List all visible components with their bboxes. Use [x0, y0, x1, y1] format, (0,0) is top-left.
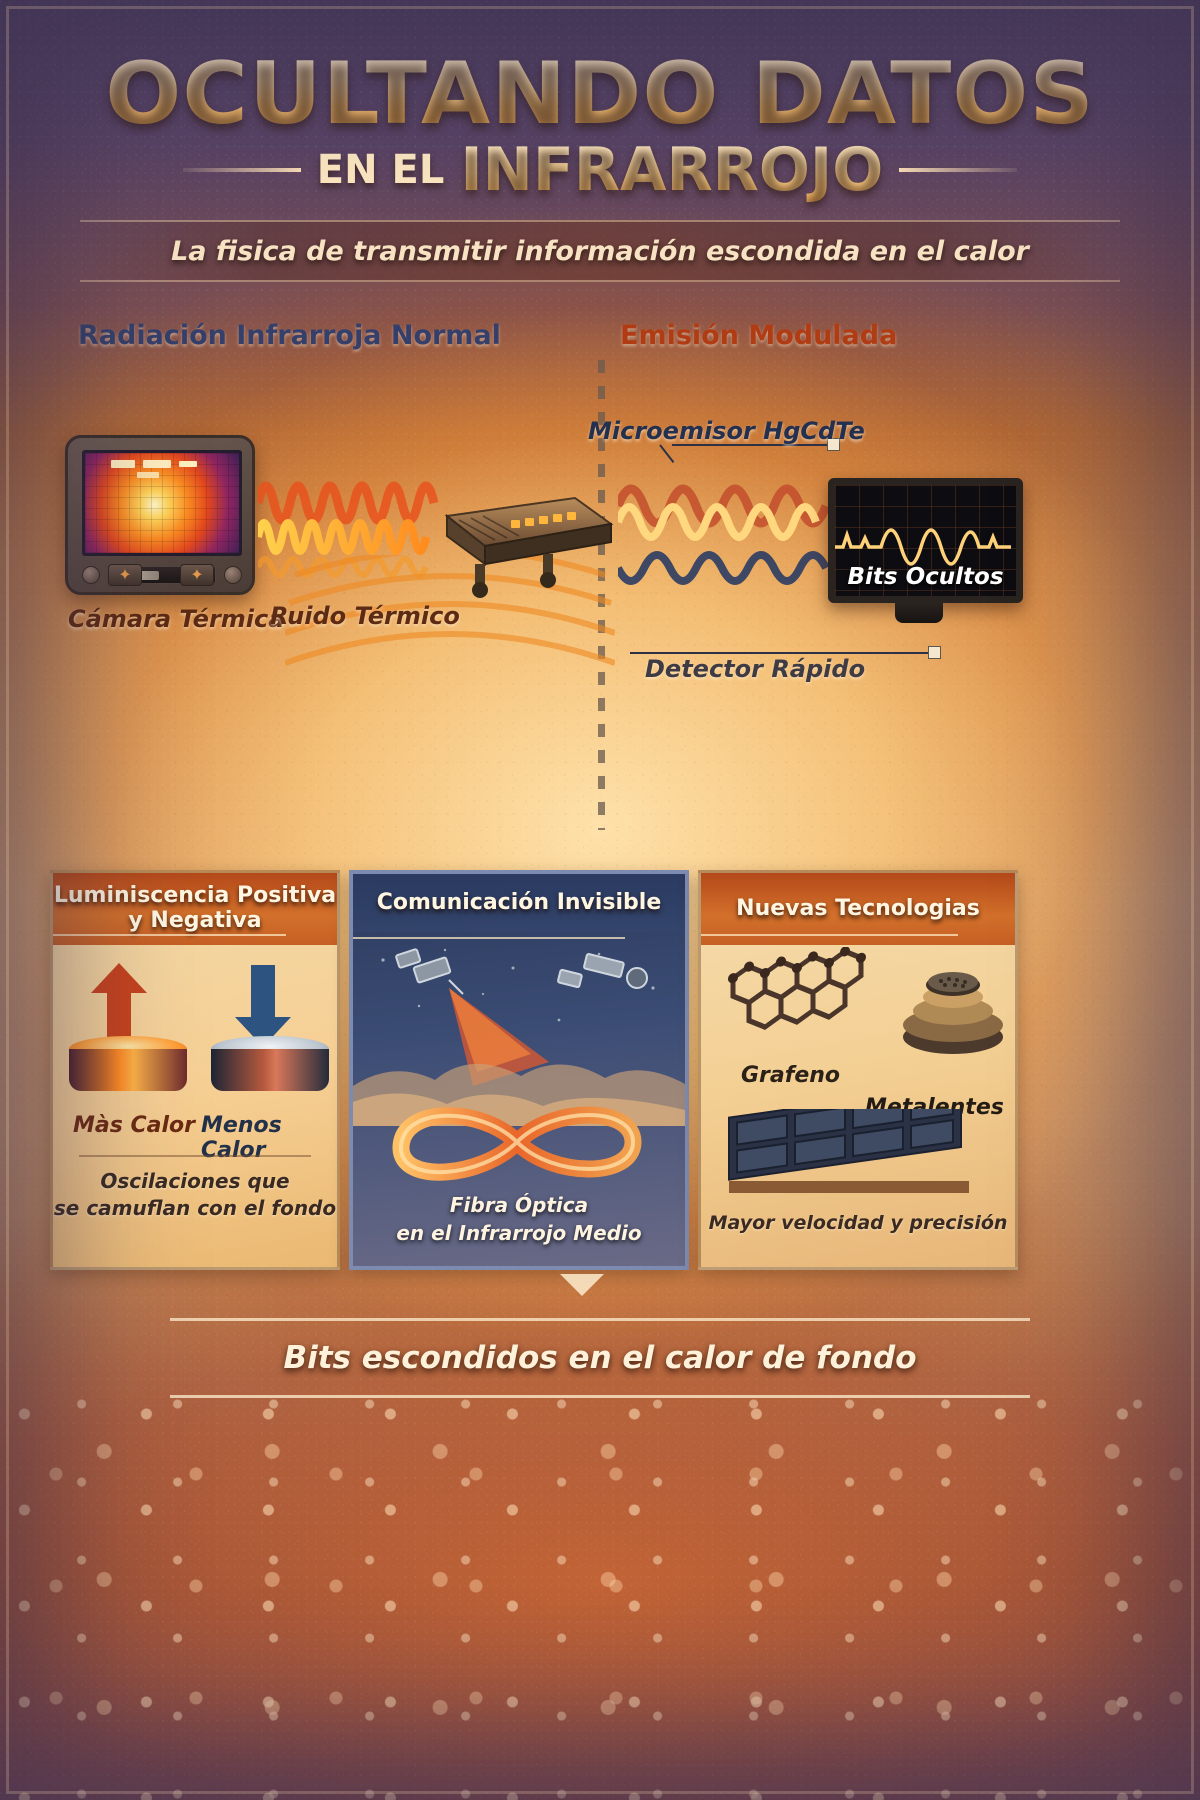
panel1-note-rule [79, 1155, 311, 1157]
panel-luminiscencia[interactable]: Luminiscencia Positiva y Negativa Màs [50, 870, 340, 1270]
main-diagram: ✦ ✦ [0, 360, 1200, 850]
detector-label: Detector Rápido [645, 655, 865, 683]
graphene-icon [715, 947, 893, 1059]
thermal-screen [82, 450, 242, 556]
panel3-title-line1: Nuevas Tecnologias [736, 897, 980, 922]
panel-row: Luminiscencia Positiva y Negativa Màs [50, 870, 1155, 1270]
panel3-item-left: Grafeno [741, 1063, 840, 1088]
poster-canvas: OCULTANDO DATOS EN EL INFRARROJO La fisi… [0, 0, 1200, 1800]
section-header-left: Radiación Infrarroja Normal [78, 320, 501, 351]
section-header-right: Emisión Modulada [620, 320, 897, 351]
footer-band: Bits escondidos en el calor de fondo [170, 1318, 1030, 1398]
fiber-optic-icon [377, 1096, 663, 1188]
panel-comunicacion[interactable]: Comunicación Invisible [349, 870, 689, 1270]
page-title: OCULTANDO DATOS [0, 44, 1200, 144]
camera-knob-left[interactable] [82, 566, 100, 584]
panel1-item-left: Màs Calor [73, 1113, 195, 1138]
leader-emitter-elbow [659, 444, 674, 463]
oscilloscope-display: Bits Ocultos [828, 478, 1023, 603]
title-small: EN EL [317, 147, 445, 193]
camera-button-right[interactable]: ✦ [180, 564, 214, 586]
chip-hot-icon [69, 1036, 187, 1098]
infrared-emitter-device [425, 480, 615, 590]
panel2-note-line1: Fibra Óptica [353, 1192, 685, 1218]
emitter-label: Microemisor HgCdTe [588, 417, 865, 445]
poster-header: OCULTANDO DATOS EN EL INFRARROJO La fisi… [0, 0, 1200, 300]
scope-stand [895, 603, 943, 623]
thermal-camera-icon: ✦ ✦ [65, 435, 255, 595]
scope-label: Bits Ocultos [835, 564, 1016, 590]
panel2-note-line2: en el Infrarrojo Medio [353, 1220, 685, 1246]
leader-detector [630, 652, 930, 654]
subtitle-band: La fisica de transmitir información esco… [80, 220, 1120, 282]
thermal-pixel-grid [85, 453, 239, 553]
noise-label: Ruido Térmico [270, 602, 460, 630]
title-rule-left [183, 168, 301, 172]
panel1-title-line2: y Negativa [128, 909, 261, 934]
leader-dot-detector [928, 646, 941, 659]
camera-knob-right[interactable] [224, 566, 242, 584]
panel-tecnologias[interactable]: Nuevas Tecnologias [698, 870, 1018, 1270]
panel1-title-line1: Luminiscencia Positiva [54, 884, 336, 909]
panel2-title-line1: Comunicación Invisible [377, 891, 662, 916]
title-rule-right [899, 168, 1017, 172]
chevron-down-icon [560, 1274, 604, 1296]
panel1-hdr-rule [53, 934, 286, 936]
photonic-array-icon [719, 1109, 985, 1201]
camera-label: Cámara Térmica [68, 605, 284, 633]
panel3-hdr-rule [701, 934, 958, 936]
footer-text: Bits escondidos en el calor de fondo [283, 1340, 916, 1376]
panel1-note-line1: Oscilaciones que [53, 1168, 337, 1194]
title-subline: EN EL INFRARROJO [0, 135, 1200, 205]
panel2-header: Comunicación Invisible [353, 874, 685, 932]
bottom-speckle-field [0, 1390, 1200, 1800]
thermal-noise-wave [258, 455, 443, 590]
panel3-note-line1: Mayor velocidad y precisión [701, 1211, 1015, 1236]
arrow-down-icon [235, 965, 291, 1047]
arrow-up-icon [91, 963, 147, 1045]
camera-button-left[interactable]: ✦ [108, 564, 142, 586]
chip-cold-icon [211, 1036, 329, 1098]
title-accent: INFRARROJO [460, 135, 883, 205]
subtitle: La fisica de transmitir información esco… [171, 236, 1029, 267]
modulated-wave [618, 460, 833, 600]
panel1-note-line2: se camuflan con el fondo [53, 1195, 337, 1221]
metalens-icon [897, 951, 1009, 1061]
